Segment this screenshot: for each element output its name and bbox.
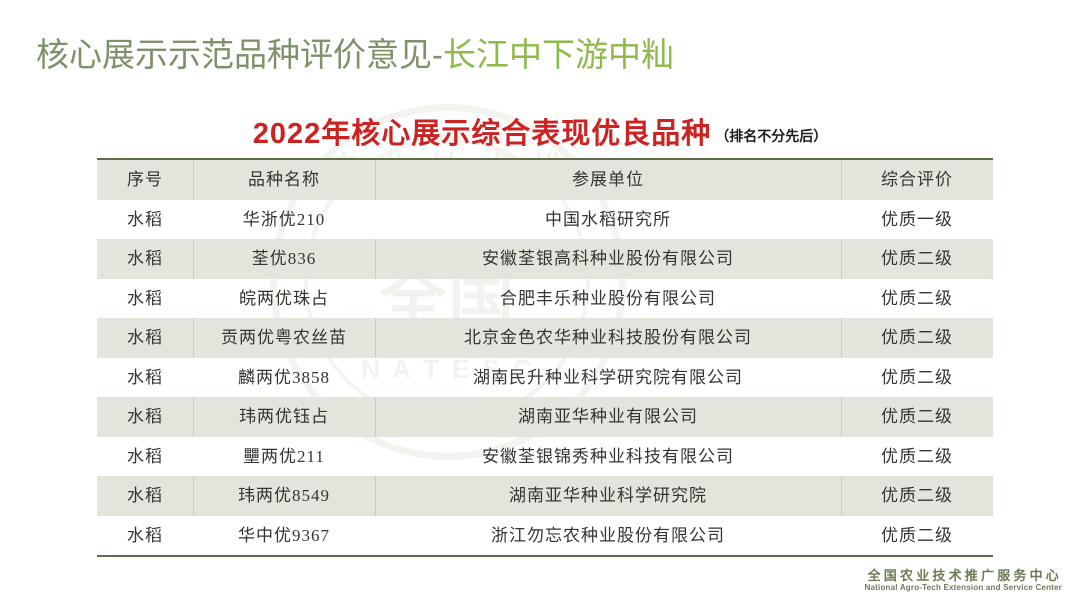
- cell-index: 水稻: [97, 239, 193, 279]
- page-title-prefix: 核心展示示范品种评价意见-: [36, 36, 443, 73]
- table-row: 水稻 贡两优粤农丝苗 北京金色农华种业科技股份有限公司 优质二级: [97, 318, 993, 358]
- section-heading-note: （排名不分先后）: [715, 128, 827, 144]
- cell-index: 水稻: [97, 318, 193, 358]
- cell-exhibitor: 安徽荃银高科种业股份有限公司: [375, 239, 841, 279]
- cell-exhibitor: 合肥丰乐种业股份有限公司: [375, 279, 841, 319]
- cell-variety-name: 皖两优珠占: [193, 279, 375, 319]
- cell-evaluation: 优质二级: [841, 318, 993, 358]
- variety-table-container: 序号 品种名称 参展单位 综合评价 水稻 华浙优210 中国水稻研究所 优质一级…: [97, 158, 993, 557]
- footer-logo-chinese: 全国农业技术推广服务中心: [865, 568, 1062, 583]
- cell-exhibitor: 安徽荃银锦秀种业科技有限公司: [375, 437, 841, 477]
- table-row: 水稻 荃优836 安徽荃银高科种业股份有限公司 优质二级: [97, 239, 993, 279]
- cell-evaluation: 优质一级: [841, 200, 993, 240]
- slide-root: { "page": { "title_main": "核心展示示范品种评价意见-…: [0, 0, 1080, 609]
- cell-exhibitor: 湖南亚华种业科学研究院: [375, 476, 841, 516]
- column-header-index: 序号: [97, 159, 193, 200]
- table-header-row: 序号 品种名称 参展单位 综合评价: [97, 159, 993, 200]
- cell-variety-name: 壨两优211: [193, 437, 375, 477]
- column-header-evaluation: 综合评价: [841, 159, 993, 200]
- column-header-variety-name: 品种名称: [193, 159, 375, 200]
- cell-evaluation: 优质二级: [841, 358, 993, 398]
- footer-logo: 全国农业技术推广服务中心 National Agro-Tech Extensio…: [865, 568, 1062, 593]
- cell-variety-name: 华浙优210: [193, 200, 375, 240]
- column-header-exhibitor: 参展单位: [375, 159, 841, 200]
- section-heading-main: 2022年核心展示综合表现优良品种: [253, 118, 712, 150]
- table-row: 水稻 华中优9367 浙江勿忘农种业股份有限公司 优质二级: [97, 516, 993, 557]
- table-row: 水稻 华浙优210 中国水稻研究所 优质一级: [97, 200, 993, 240]
- cell-index: 水稻: [97, 437, 193, 477]
- cell-exhibitor: 湖南民升种业科学研究院有限公司: [375, 358, 841, 398]
- cell-evaluation: 优质二级: [841, 476, 993, 516]
- cell-variety-name: 麟两优3858: [193, 358, 375, 398]
- cell-index: 水稻: [97, 279, 193, 319]
- cell-exhibitor: 中国水稻研究所: [375, 200, 841, 240]
- page-title: 核心展示示范品种评价意见-长江中下游中籼: [36, 28, 674, 76]
- cell-evaluation: 优质二级: [841, 437, 993, 477]
- variety-table: 序号 品种名称 参展单位 综合评价 水稻 华浙优210 中国水稻研究所 优质一级…: [97, 158, 993, 557]
- cell-exhibitor: 北京金色农华种业科技股份有限公司: [375, 318, 841, 358]
- table-row: 水稻 麟两优3858 湖南民升种业科学研究院有限公司 优质二级: [97, 358, 993, 398]
- footer-logo-english: National Agro-Tech Extension and Service…: [865, 583, 1062, 593]
- cell-evaluation: 优质二级: [841, 397, 993, 437]
- cell-index: 水稻: [97, 516, 193, 557]
- cell-variety-name: 贡两优粤农丝苗: [193, 318, 375, 358]
- cell-evaluation: 优质二级: [841, 279, 993, 319]
- cell-variety-name: 荃优836: [193, 239, 375, 279]
- cell-variety-name: 华中优9367: [193, 516, 375, 557]
- table-head: 序号 品种名称 参展单位 综合评价: [97, 159, 993, 200]
- table-body: 水稻 华浙优210 中国水稻研究所 优质一级 水稻 荃优836 安徽荃银高科种业…: [97, 200, 993, 557]
- cell-index: 水稻: [97, 200, 193, 240]
- cell-exhibitor: 浙江勿忘农种业股份有限公司: [375, 516, 841, 557]
- cell-variety-name: 玮两优钰占: [193, 397, 375, 437]
- table-row: 水稻 玮两优钰占 湖南亚华种业有限公司 优质二级: [97, 397, 993, 437]
- cell-evaluation: 优质二级: [841, 516, 993, 557]
- cell-evaluation: 优质二级: [841, 239, 993, 279]
- cell-index: 水稻: [97, 358, 193, 398]
- table-row: 水稻 皖两优珠占 合肥丰乐种业股份有限公司 优质二级: [97, 279, 993, 319]
- cell-exhibitor: 湖南亚华种业有限公司: [375, 397, 841, 437]
- cell-index: 水稻: [97, 476, 193, 516]
- section-heading: 2022年核心展示综合表现优良品种（排名不分先后）: [0, 110, 1080, 152]
- page-title-accent: 长江中下游中籼: [443, 36, 674, 73]
- cell-variety-name: 玮两优8549: [193, 476, 375, 516]
- table-row: 水稻 壨两优211 安徽荃银锦秀种业科技有限公司 优质二级: [97, 437, 993, 477]
- table-row: 水稻 玮两优8549 湖南亚华种业科学研究院 优质二级: [97, 476, 993, 516]
- cell-index: 水稻: [97, 397, 193, 437]
